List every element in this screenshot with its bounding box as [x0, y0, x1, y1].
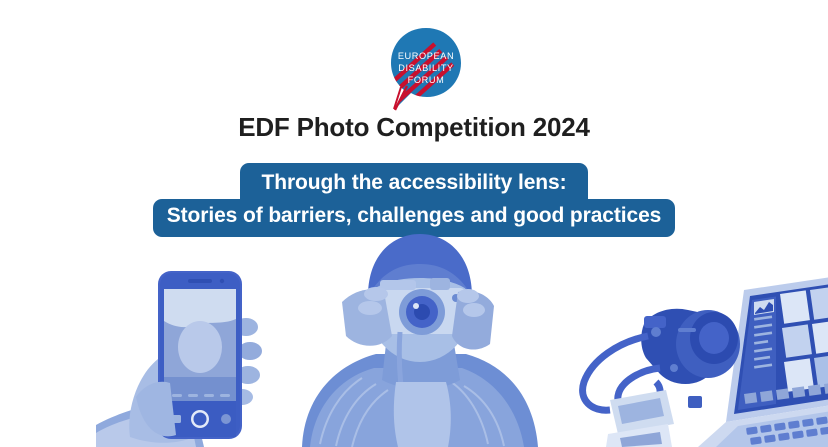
- memory-card: [688, 396, 702, 408]
- laptop-screen-group: [726, 276, 828, 422]
- dslr-lens-glass: [699, 322, 729, 354]
- edf-photo-competition-poster: EUROPEAN DISABILITY FORUM EDF Photo Comp…: [0, 0, 828, 447]
- dslr-mode-dial: [651, 327, 661, 337]
- dslr-prism: [644, 316, 666, 328]
- dslr-camera-and-laptop-photo: [548, 272, 828, 447]
- subtitle-banner: Through the accessibility lens: Stories …: [0, 163, 828, 237]
- photo-grid: [780, 286, 828, 391]
- person-taking-photo-with-camera-photo: [280, 232, 560, 447]
- camera-prism: [430, 278, 450, 290]
- hand-holding-smartphone-camera-photo: [96, 247, 311, 447]
- logo-line-1: EUROPEAN: [398, 51, 454, 61]
- logo-line-2: DISABILITY: [398, 63, 454, 73]
- dslr-camera-group: [641, 309, 740, 384]
- lens-highlight: [413, 303, 419, 309]
- flip-camera-icon[interactable]: [221, 414, 231, 424]
- subtitle-line-1: Through the accessibility lens:: [240, 163, 589, 201]
- subtitle-row-1: Through the accessibility lens:: [0, 163, 828, 201]
- dslr-button: [670, 364, 678, 372]
- page-title: EDF Photo Competition 2024: [0, 111, 828, 143]
- shutter-button-inner: [194, 413, 207, 426]
- camera-top-plate: [380, 280, 416, 290]
- dslr-grip-detail: [678, 328, 696, 332]
- phone-speaker: [188, 279, 212, 283]
- viewfinder-subject: [178, 321, 222, 373]
- logo-container: EUROPEAN DISABILITY FORUM: [0, 24, 828, 112]
- front-camera-dot: [220, 279, 224, 283]
- european-disability-forum-logo: EUROPEAN DISABILITY FORUM: [360, 24, 468, 112]
- viewfinder-foreground: [164, 377, 236, 401]
- logo-line-3: FORUM: [408, 75, 445, 85]
- photo-collage: [0, 232, 828, 447]
- scarf-drape: [394, 382, 451, 447]
